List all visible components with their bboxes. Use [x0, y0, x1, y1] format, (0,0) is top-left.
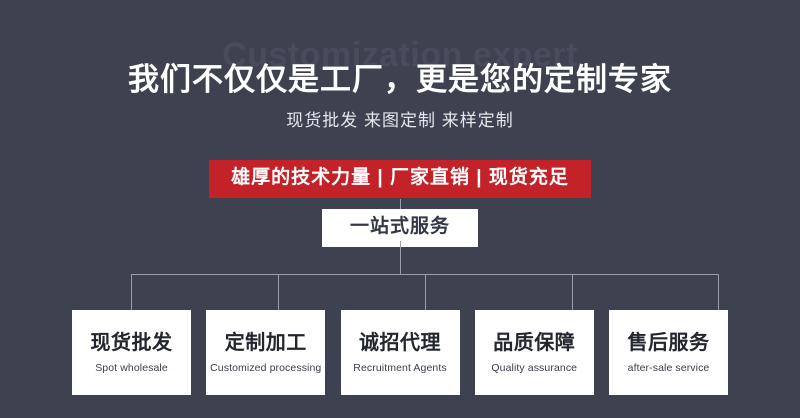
- service-card-title: 诚招代理: [359, 331, 441, 355]
- headline-title: 我们不仅仅是工厂，更是您的定制专家: [0, 54, 800, 99]
- service-card[interactable]: 售后服务 after-sale service: [609, 310, 728, 395]
- service-card-subtitle: Quality assurance: [491, 362, 577, 375]
- highlight-bar-container: 雄厚的技术力量 | 厂家直销 | 现货充足: [0, 160, 800, 198]
- connector-drop-5: [718, 274, 719, 310]
- connector-drop-2: [278, 274, 279, 310]
- connector-stem-bottom: [400, 241, 401, 274]
- service-card-subtitle: after-sale service: [628, 362, 710, 375]
- connector-drop-3: [425, 274, 426, 310]
- service-card-title: 品质保障: [493, 331, 575, 355]
- service-card-title: 定制加工: [225, 331, 307, 355]
- connector-stem-top: [400, 199, 401, 209]
- service-card-list: 现货批发 Spot wholesale 定制加工 Customized proc…: [72, 310, 728, 395]
- service-card[interactable]: 定制加工 Customized processing: [206, 310, 325, 395]
- service-card-title: 售后服务: [628, 331, 710, 355]
- service-card[interactable]: 诚招代理 Recruitment Agents: [341, 310, 460, 395]
- highlight-bar: 雄厚的技术力量 | 厂家直销 | 现货充足: [209, 160, 591, 198]
- service-card-title: 现货批发: [91, 331, 173, 355]
- connector-drop-4: [572, 274, 573, 310]
- service-card[interactable]: 品质保障 Quality assurance: [475, 310, 594, 395]
- promo-banner: Customization expert 我们不仅仅是工厂，更是您的定制专家 现…: [0, 0, 800, 418]
- service-card[interactable]: 现货批发 Spot wholesale: [72, 310, 191, 395]
- service-card-subtitle: Recruitment Agents: [353, 362, 446, 375]
- service-card-subtitle: Customized processing: [210, 362, 321, 375]
- subtitle-text: 现货批发 来图定制 来样定制: [0, 106, 800, 131]
- service-card-subtitle: Spot wholesale: [95, 362, 168, 375]
- connector-drop-1: [131, 274, 132, 310]
